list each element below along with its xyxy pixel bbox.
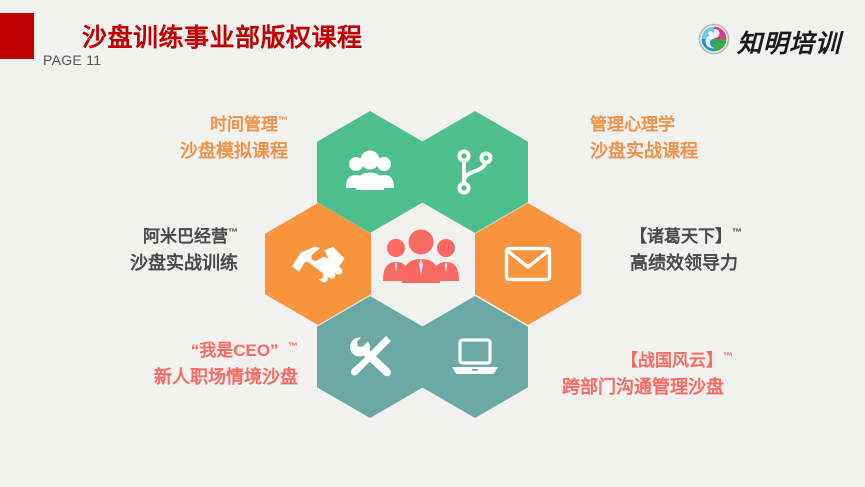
course-line1: 阿米巴经营™ [58,224,238,250]
color-swirl-circle-icon [698,23,730,60]
slide-header: 沙盘训练事业部版权课程 PAGE 11 知明培训 [0,0,865,86]
course-line1: “我是CEO” ™ [88,338,298,364]
course-line2: 高绩效领导力 [630,250,830,278]
course-line1: 管理心理学 [590,112,790,138]
header-accent-block [0,13,34,59]
course-line2: 沙盘模拟课程 [108,138,288,166]
brand-logo-text: 知明培训 [737,24,841,60]
course-line2: 沙盘实战训练 [58,250,238,278]
page-number-label: PAGE 11 [43,52,101,68]
course-line1: 【战国风云】™ [562,348,792,374]
hexagon-bottom-right[interactable] [421,295,529,419]
course-label-i-am-ceo[interactable]: “我是CEO” ™ 新人职场情境沙盘 [88,338,298,392]
course-label-management-psychology[interactable]: 管理心理学 沙盘实战课程 [590,112,790,166]
course-line2: 跨部门沟通管理沙盘 [562,374,792,402]
course-label-time-management[interactable]: 时间管理™ 沙盘模拟课程 [108,112,288,166]
laptop-icon [421,295,529,419]
hexagon-bottom-left[interactable] [316,295,424,419]
page-title: 沙盘训练事业部版权课程 [82,18,363,54]
three-people-group-icon [382,228,460,290]
course-label-amoeba-management[interactable]: 阿米巴经营™ 沙盘实战训练 [58,224,238,278]
course-line2: 新人职场情境沙盘 [88,364,298,392]
course-line1: 【诸葛天下】™ [630,224,830,250]
course-line1: 时间管理™ [108,112,288,138]
tools-icon [316,295,424,419]
course-line2: 沙盘实战课程 [590,138,790,166]
brand-logo: 知明培训 [698,23,841,60]
course-label-warring-states[interactable]: 【战国风云】™ 跨部门沟通管理沙盘 [562,348,792,402]
course-label-zhuge-tianxia[interactable]: 【诸葛天下】™ 高绩效领导力 [630,224,830,278]
